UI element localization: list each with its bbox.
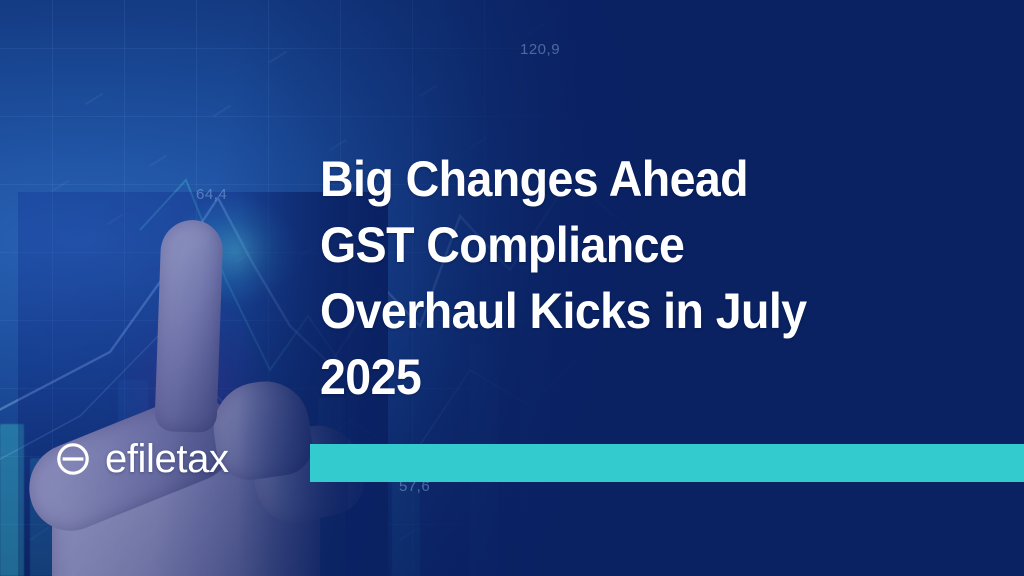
- headline-line-4: 2025: [320, 344, 906, 410]
- headline-line-3: Overhaul Kicks in July: [320, 278, 906, 344]
- chart-label-120-9: 120,9: [520, 41, 560, 58]
- logo-wordmark: efiletax: [105, 439, 229, 479]
- chart-label-64-4: 64,4: [196, 186, 227, 203]
- headline: Big Changes Ahead GST Compliance Overhau…: [320, 146, 906, 410]
- efiletax-circle-e-icon: [56, 442, 90, 476]
- accent-bar: [310, 444, 1024, 482]
- headline-line-1: Big Changes Ahead: [320, 146, 906, 212]
- headline-line-2: GST Compliance: [320, 212, 906, 278]
- promo-banner: 120,9 64,4 57,6 Big Changes Ahead GST Co…: [0, 0, 1024, 576]
- logo[interactable]: efiletax: [56, 436, 229, 482]
